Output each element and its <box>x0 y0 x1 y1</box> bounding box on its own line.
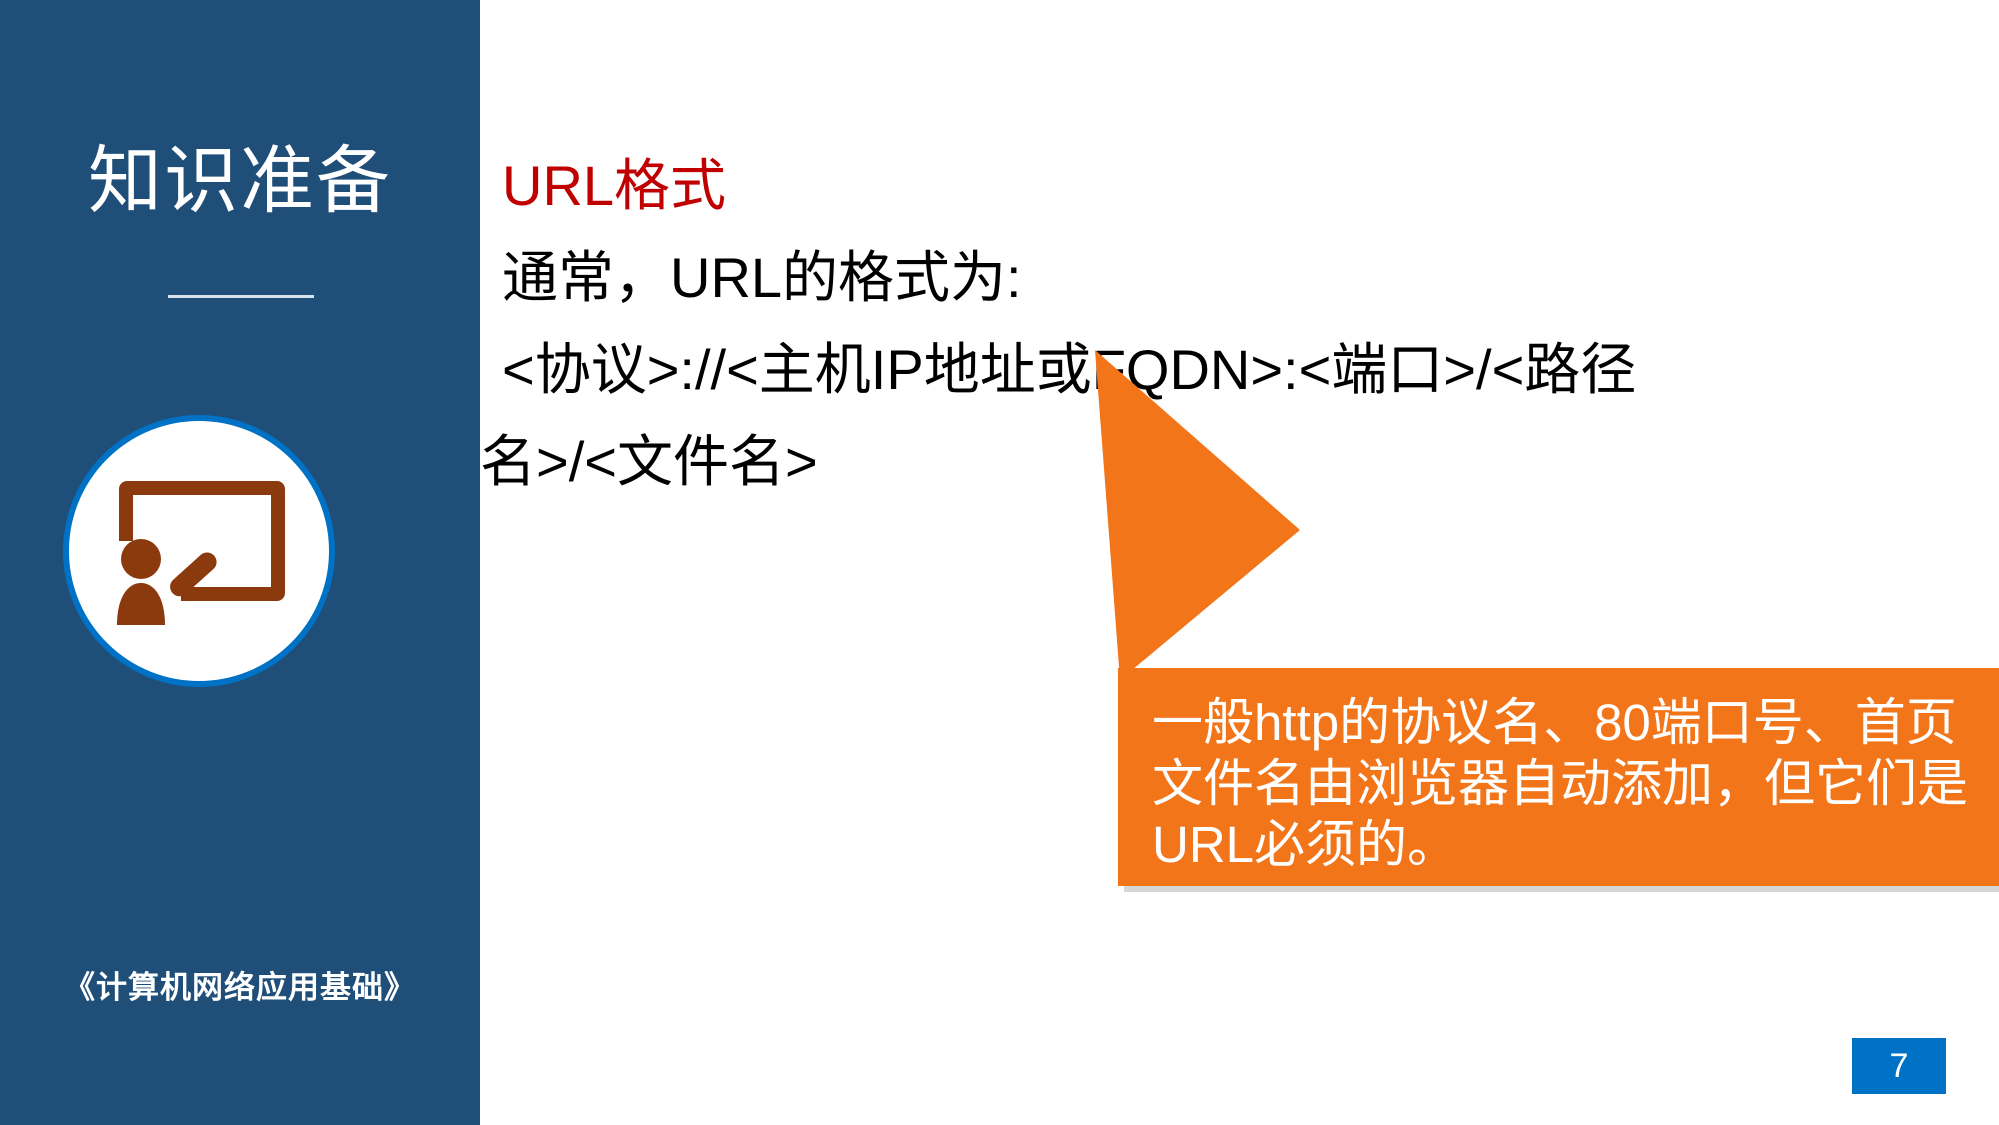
callout-box: 一般http的协议名、80端口号、首页 文件名由浏览器自动添加，但它们是 URL… <box>1118 668 1999 886</box>
presentation-teacher-icon <box>63 415 335 687</box>
content-heading: URL格式 <box>480 140 1944 232</box>
content-line-url-format-wrap: 名>/<文件名> <box>480 416 1944 508</box>
slide-canvas: 知识准备 《计算机网络应用基础》 URL格式 通常，URL的格式为: <协议>:… <box>0 0 1999 1125</box>
body-text-block: URL格式 通常，URL的格式为: <协议>://<主机IP地址或FQDN>:<… <box>480 140 1999 508</box>
whiteboard-presenter-glyph <box>113 473 285 625</box>
content-line-url-format: <协议>://<主机IP地址或FQDN>:<端口>/<路径 <box>480 324 1944 416</box>
callout-line-2: 文件名由浏览器自动添加，但它们是 <box>1152 753 1999 814</box>
callout-line-1: 一般http的协议名、80端口号、首页 <box>1152 692 1999 753</box>
content-area: URL格式 通常，URL的格式为: <协议>://<主机IP地址或FQDN>:<… <box>480 0 1999 1125</box>
sidebar: 知识准备 《计算机网络应用基础》 <box>0 0 480 1125</box>
title-divider <box>168 295 314 298</box>
content-line-intro: 通常，URL的格式为: <box>480 232 1944 324</box>
course-book-title: 《计算机网络应用基础》 <box>0 962 480 1007</box>
page-title: 知识准备 <box>0 135 480 227</box>
callout-line-3: URL必须的。 <box>1152 814 1999 875</box>
page-number-badge: 7 <box>1852 1038 1946 1094</box>
